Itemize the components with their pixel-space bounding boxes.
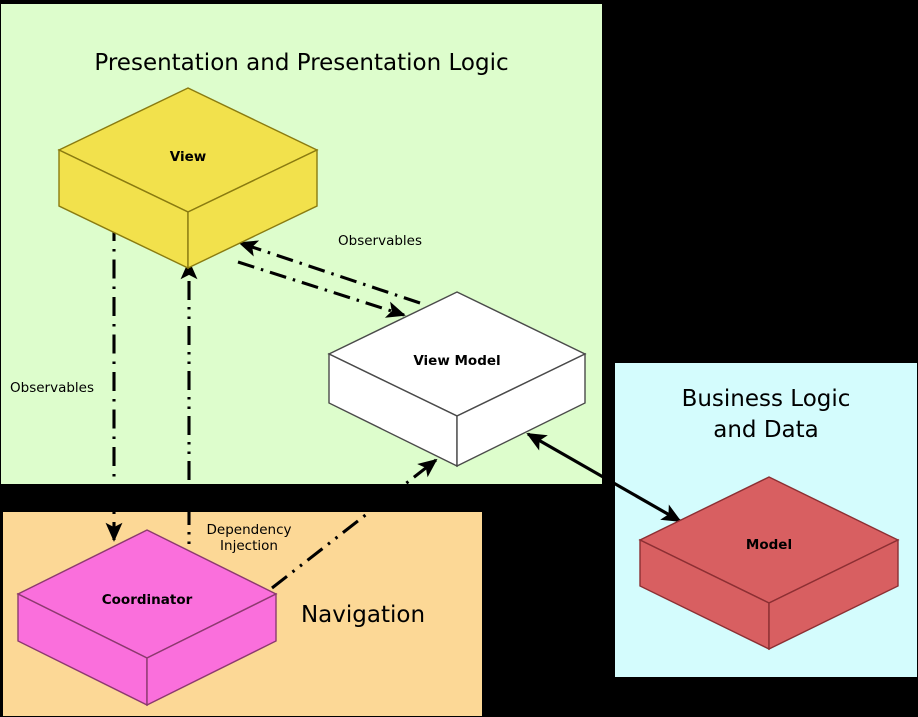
box-model[interactable] xyxy=(640,477,898,649)
box-view-model[interactable] xyxy=(329,292,585,466)
connector-viewmodel-model xyxy=(528,434,680,521)
box-view[interactable] xyxy=(59,88,317,268)
connector-dependency-injection-to-viewmodel xyxy=(272,460,436,588)
box-label-coordinator: Coordinator xyxy=(72,592,222,608)
connector-observables-viewmodel-to-view xyxy=(240,243,420,303)
box-label-view: View xyxy=(128,149,248,165)
box-label-model: Model xyxy=(709,537,829,553)
connector-label-dependency-injection: Dependency Injection xyxy=(206,522,292,554)
box-label-view-model: View Model xyxy=(387,353,527,369)
connector-label-observables-viewmodel: Observables xyxy=(338,233,422,249)
diagram-canvas: Presentation and Presentation Logic Navi… xyxy=(0,0,918,717)
box-coordinator[interactable] xyxy=(18,530,276,705)
connector-label-observables-coordinator: Observables xyxy=(10,380,94,396)
